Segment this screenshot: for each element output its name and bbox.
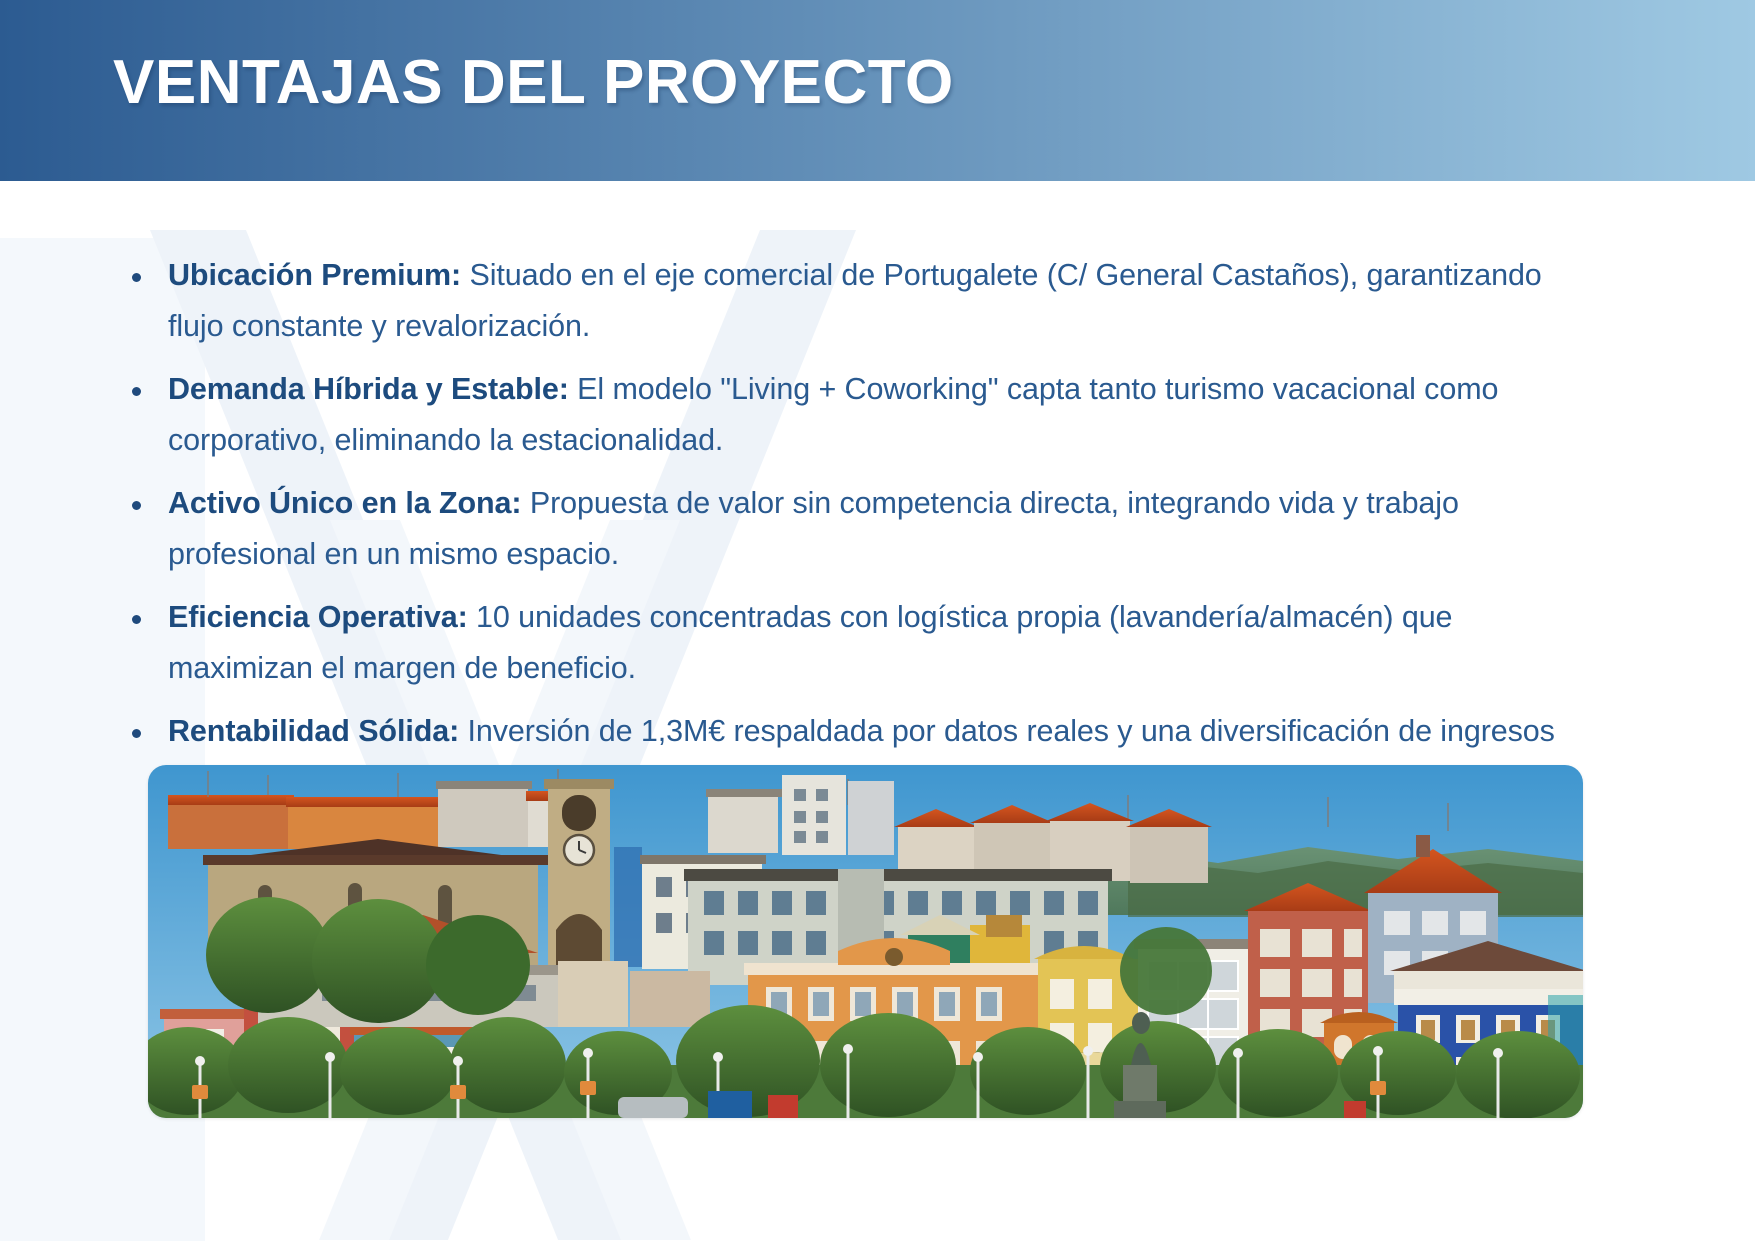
portugalete-skyline-photo — [148, 765, 1583, 1118]
list-item-lead: Ubicación Premium: — [168, 258, 461, 292]
advantages-list: Ubicación Premium: Situado en el eje com… — [120, 250, 1585, 820]
portugalete-skyline-illustration — [148, 765, 1583, 1118]
list-item: Eficiencia Operativa: 10 unidades concen… — [120, 592, 1585, 694]
list-item-lead: Demanda Híbrida y Estable: — [168, 372, 569, 406]
page-title: VENTAJAS DEL PROYECTO — [113, 50, 954, 115]
list-item: Activo Único en la Zona: Propuesta de va… — [120, 478, 1585, 580]
list-item-lead: Rentabilidad Sólida: — [168, 714, 459, 748]
list-item-lead: Eficiencia Operativa: — [168, 600, 468, 634]
list-item: Ubicación Premium: Situado en el eje com… — [120, 250, 1585, 352]
list-item: Demanda Híbrida y Estable: El modelo "Li… — [120, 364, 1585, 466]
list-item-lead: Activo Único en la Zona: — [168, 486, 521, 520]
slide-header-band: VENTAJAS DEL PROYECTO — [0, 0, 1755, 181]
